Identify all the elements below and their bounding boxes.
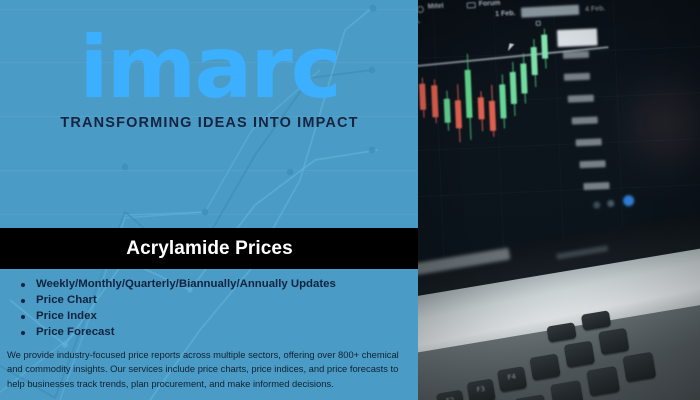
brand-logo-block: imarc TRANSFORMING IDEAS INTO IMPACT — [0, 22, 419, 131]
photo-vignette — [418, 0, 700, 400]
feature-label: Weekly/Monthly/Quarterly/Biannually/Annu… — [36, 278, 336, 290]
title-banner: Acrylamide Prices — [0, 228, 419, 269]
description-paragraph: We provide industry-focused price report… — [7, 348, 409, 391]
feature-label: Price Forecast — [36, 326, 115, 338]
promo-banner-image: imarc TRANSFORMING IDEAS INTO IMPACT Acr… — [0, 0, 700, 400]
feature-label: Price Index — [36, 310, 97, 322]
feature-label: Price Chart — [36, 294, 97, 306]
list-item: Weekly/Monthly/Quarterly/Biannually/Annu… — [18, 277, 408, 293]
feature-list: Weekly/Monthly/Quarterly/Biannually/Annu… — [18, 277, 408, 341]
imarc-logo-text: imarc — [79, 22, 340, 114]
list-item: Price Forecast — [18, 325, 408, 341]
left-content-panel: imarc TRANSFORMING IDEAS INTO IMPACT Acr… — [0, 0, 419, 400]
laptop-trading-photo: Mitel Forum 8 Jan. 1 Feb. 4 Feb. — [418, 0, 700, 400]
list-item: Price Chart — [18, 293, 408, 309]
list-item: Price Index — [18, 309, 408, 325]
page-title: Acrylamide Prices — [126, 238, 292, 260]
